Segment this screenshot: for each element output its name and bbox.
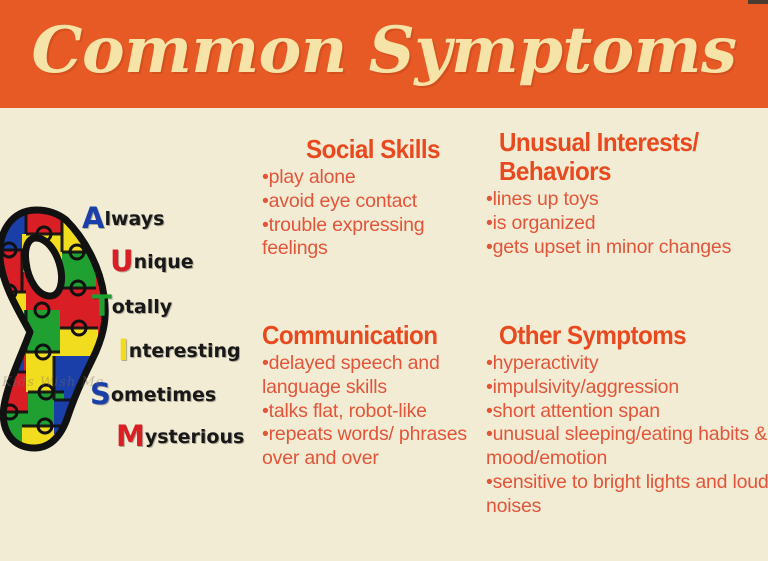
section-unusual-interests: Unusual Interests/ Behaviors •lines up t… bbox=[486, 128, 768, 260]
list-item: •lines up toys bbox=[486, 188, 768, 212]
section-list-communication: •delayed speech and language skills •tal… bbox=[262, 352, 484, 471]
section-social-skills: Social Skills •play alone •avoid eye con… bbox=[262, 135, 484, 261]
acronym-line-mysterious: Mysterious bbox=[116, 422, 244, 451]
acronym-rest-mysterious: ysterious bbox=[145, 426, 244, 448]
list-item: •impulsivity/aggression bbox=[486, 376, 768, 400]
acronym-line-unique: Unique bbox=[110, 247, 194, 276]
main-content: Always Unique Totally Interesting Someti… bbox=[0, 108, 768, 561]
list-item: •talks flat, robot-like bbox=[262, 400, 484, 424]
list-item: •gets upset in minor changes bbox=[486, 236, 768, 260]
section-title-communication: Communication bbox=[262, 321, 468, 350]
section-other-symptoms: Other Symptoms •hyperactivity •impulsivi… bbox=[486, 321, 768, 519]
acronym-cap-t: T bbox=[92, 289, 112, 323]
section-title-other-symptoms: Other Symptoms bbox=[486, 321, 756, 350]
acronym-rest-interesting: nteresting bbox=[129, 340, 241, 362]
autism-acronym-text: Always Unique Totally Interesting Someti… bbox=[76, 190, 258, 465]
acronym-line-totally: Totally bbox=[92, 292, 172, 321]
acronym-cap-i: I bbox=[118, 333, 129, 367]
section-list-unusual-interests: •lines up toys •is organized •gets upset… bbox=[486, 188, 768, 259]
list-item: •is organized bbox=[486, 212, 768, 236]
acronym-line-interesting: Interesting bbox=[118, 336, 241, 365]
list-item: •avoid eye contact bbox=[262, 190, 484, 214]
list-item: •hyperactivity bbox=[486, 352, 768, 376]
section-title-unusual-interests: Unusual Interests/ Behaviors bbox=[486, 128, 756, 186]
section-list-social-skills: •play alone •avoid eye contact •trouble … bbox=[262, 166, 484, 261]
header-banner: Common Symptoms bbox=[0, 0, 768, 108]
section-communication: Communication •delayed speech and langua… bbox=[262, 321, 484, 471]
acronym-rest-sometimes: ometimes bbox=[111, 384, 216, 406]
list-item: •sensitive to bright lights and loud noi… bbox=[486, 471, 768, 519]
list-item: •short attention span bbox=[486, 400, 768, 424]
acronym-rest-totally: otally bbox=[112, 296, 172, 318]
acronym-cap-m: M bbox=[116, 419, 145, 453]
list-item: •unusual sleeping/eating habits & mood/e… bbox=[486, 423, 768, 471]
page-title: Common Symptoms bbox=[0, 0, 768, 108]
acronym-line-always: Always bbox=[82, 204, 164, 233]
acronym-rest-always: lways bbox=[104, 208, 164, 230]
acronym-cap-u: U bbox=[110, 244, 134, 278]
image-watermark: Kids Wish Me bbox=[2, 375, 104, 390]
acronym-line-sometimes: Sometimes bbox=[90, 380, 216, 409]
list-item: •repeats words/ phrases over and over bbox=[262, 423, 484, 471]
list-item: •trouble expressing feelings bbox=[262, 214, 484, 262]
corner-artifact bbox=[748, 0, 768, 4]
section-title-social-skills: Social Skills bbox=[270, 135, 476, 164]
acronym-cap-a: A bbox=[82, 201, 104, 235]
acronym-rest-unique: nique bbox=[134, 251, 194, 273]
autism-acronym-artwork: Always Unique Totally Interesting Someti… bbox=[0, 190, 258, 465]
list-item: •delayed speech and language skills bbox=[262, 352, 484, 400]
section-list-other-symptoms: •hyperactivity •impulsivity/aggression •… bbox=[486, 352, 768, 518]
list-item: •play alone bbox=[262, 166, 484, 190]
